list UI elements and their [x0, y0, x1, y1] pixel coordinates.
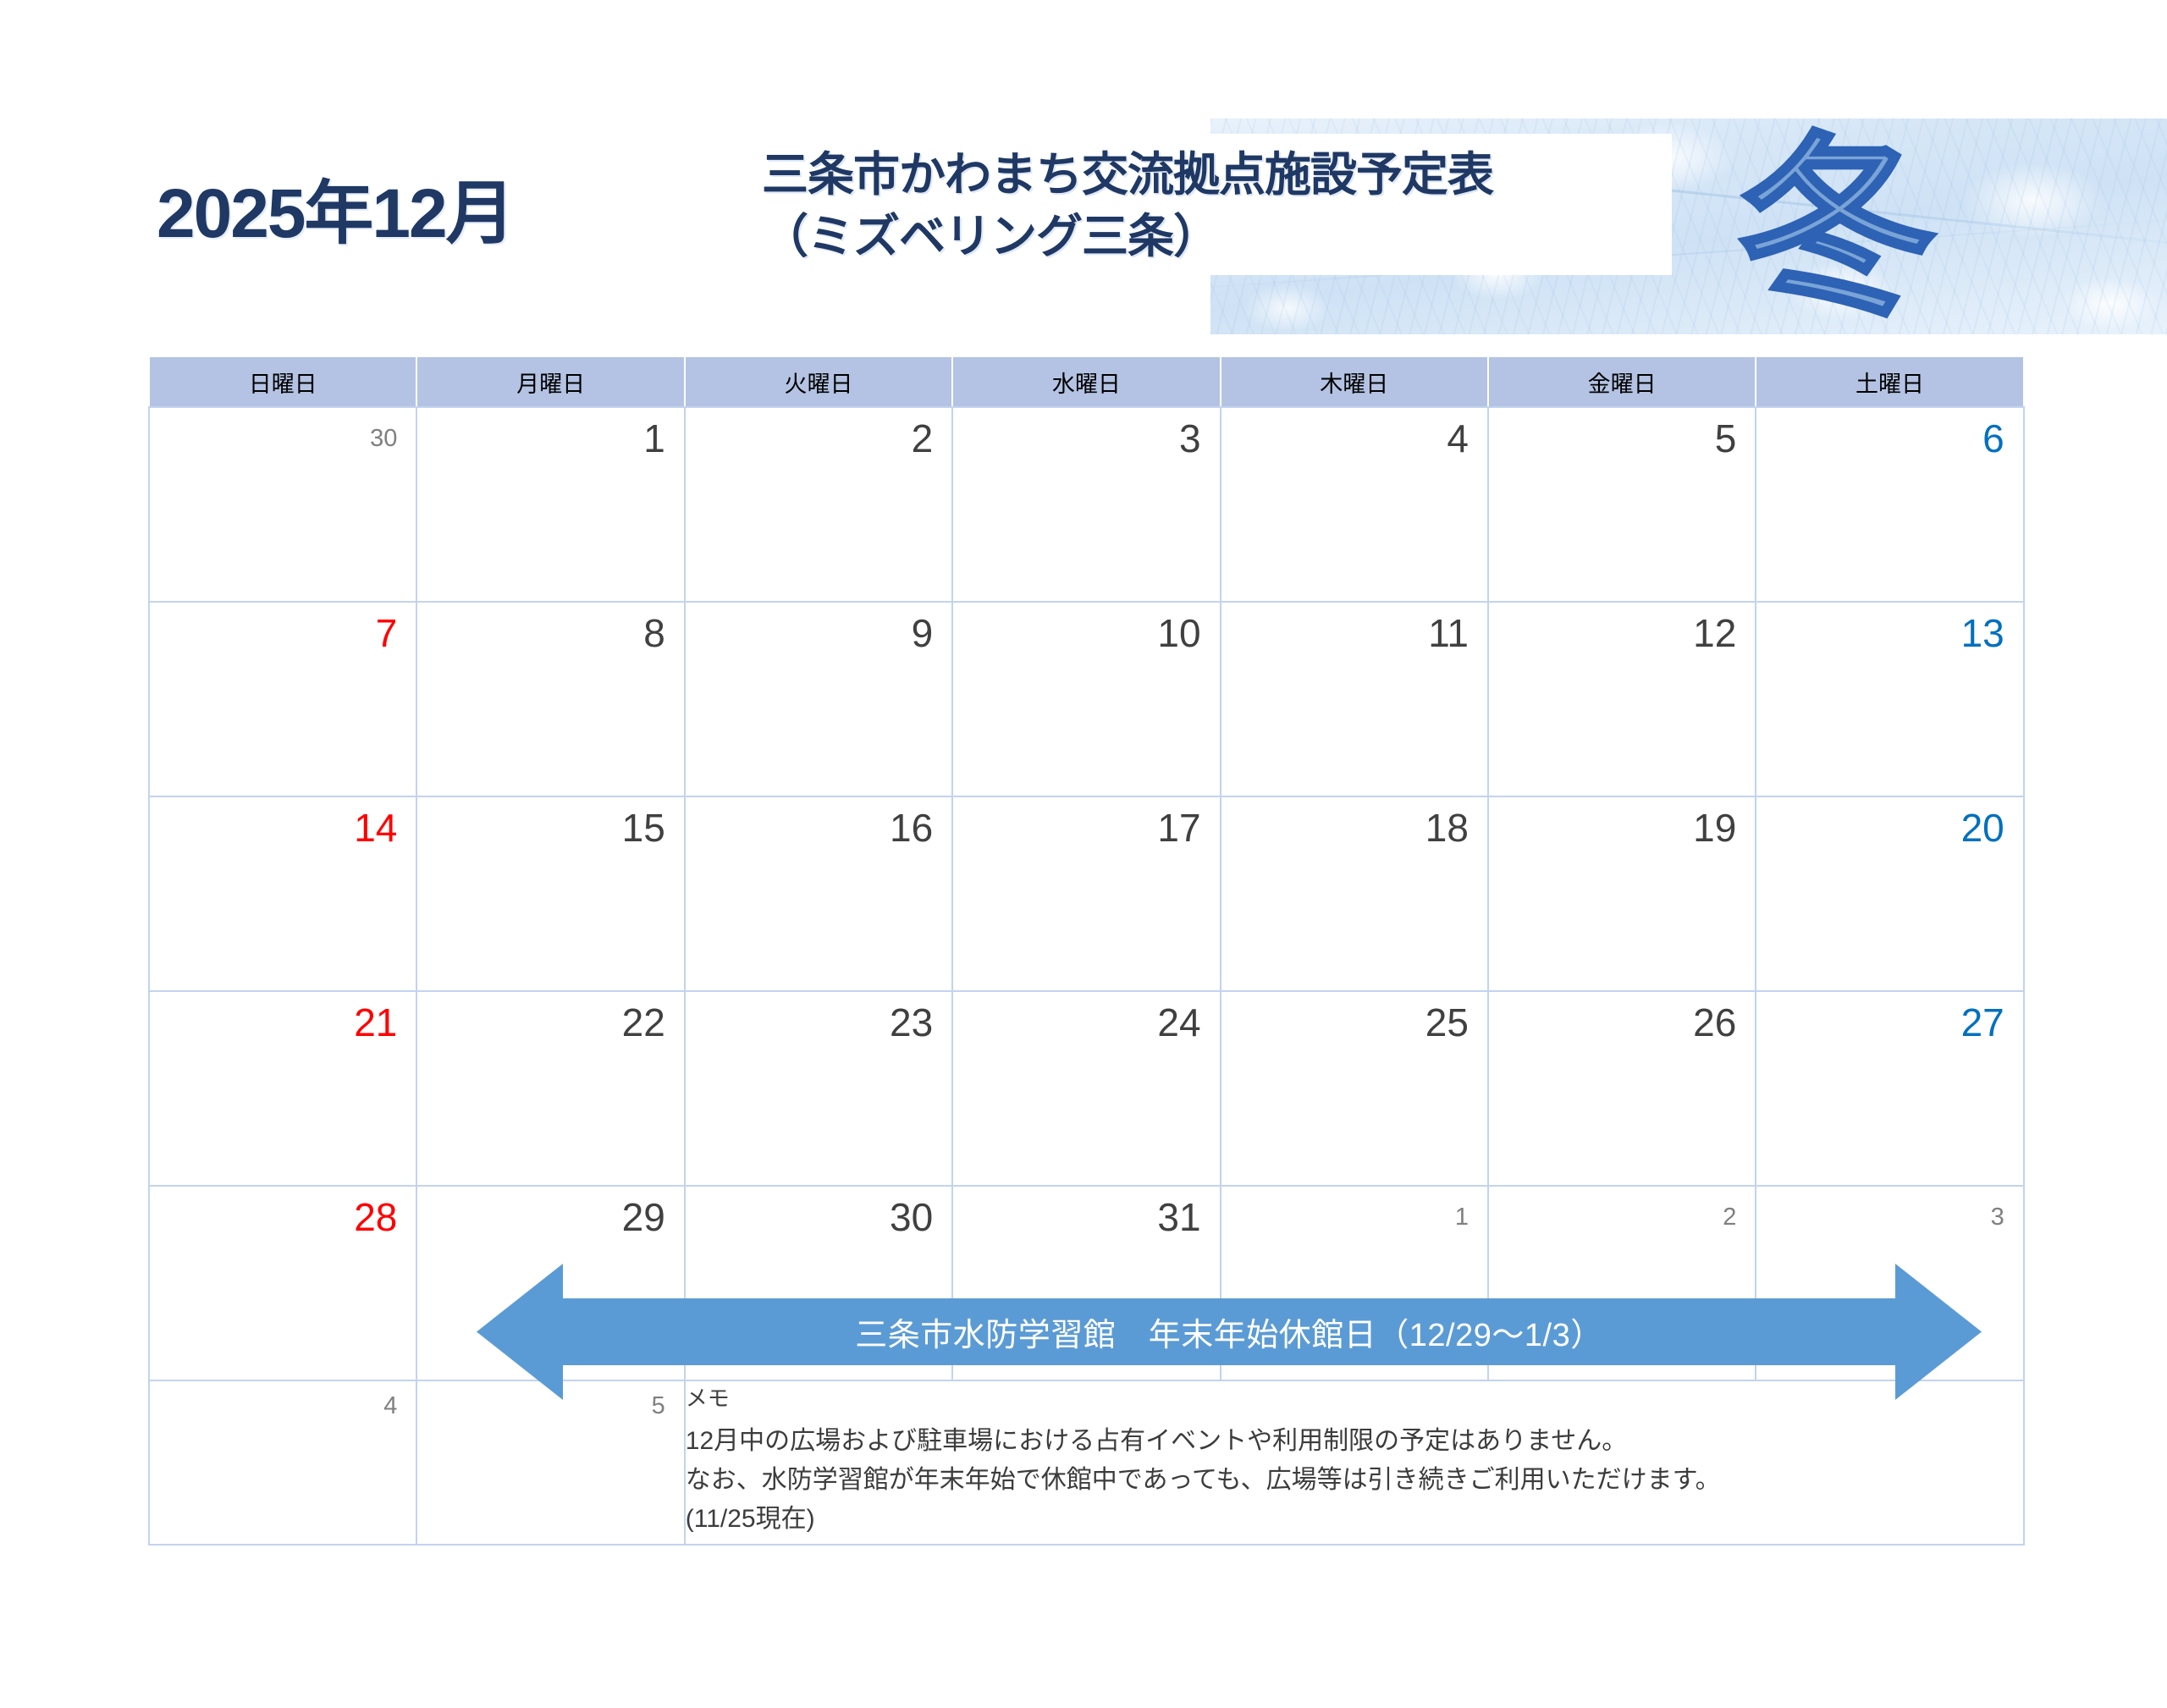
- day-number: 18: [1221, 797, 1487, 851]
- calendar-week-row: 30123456: [149, 407, 2024, 602]
- weekday-header-friday: 金曜日: [1488, 356, 1756, 407]
- day-number: 5: [1489, 408, 1755, 461]
- day-number: 1: [1221, 1187, 1487, 1240]
- day-number: 2: [1489, 1187, 1755, 1240]
- calendar-day-cell[interactable]: 25: [1221, 991, 1488, 1186]
- day-number: 10: [953, 603, 1219, 656]
- calendar-week-row: 78910111213: [149, 602, 2024, 796]
- facility-schedule-title-line2: （ミズベリング三条）: [762, 206, 1727, 267]
- day-number: 19: [1489, 797, 1755, 851]
- calendar-day-cell[interactable]: 22: [416, 991, 684, 1186]
- facility-schedule-title-line1: 三条市かわまち交流拠点施設予定表: [762, 148, 1493, 201]
- day-number: 8: [417, 603, 683, 656]
- month-title: 2025年12月: [157, 174, 514, 255]
- day-number: 25: [1221, 992, 1487, 1045]
- day-number: 4: [150, 1381, 416, 1423]
- calendar-day-cell[interactable]: 15: [416, 796, 684, 991]
- calendar-day-cell[interactable]: 7: [149, 602, 416, 796]
- calendar-week-row: 21222324252627: [149, 991, 2024, 1186]
- day-number: 3: [953, 408, 1219, 461]
- calendar-day-cell[interactable]: 31: [952, 1186, 1220, 1380]
- calendar-day-cell[interactable]: 12: [1488, 602, 1756, 796]
- day-number: 21: [150, 992, 416, 1045]
- calendar-day-cell[interactable]: 13: [1756, 602, 2023, 796]
- day-number: 17: [953, 797, 1219, 851]
- day-number: 24: [953, 992, 1219, 1045]
- day-number: 28: [150, 1187, 416, 1240]
- calendar-day-cell[interactable]: 17: [952, 796, 1220, 991]
- day-number: 23: [686, 992, 951, 1045]
- calendar-day-cell[interactable]: 20: [1756, 796, 2023, 991]
- calendar-header-row: 日曜日 月曜日 火曜日 水曜日 木曜日 金曜日 土曜日: [149, 356, 2024, 407]
- calendar-day-cell[interactable]: 29: [416, 1186, 684, 1380]
- calendar-day-cell[interactable]: 2: [685, 407, 952, 602]
- day-number: 4: [1221, 408, 1487, 461]
- memo-line: なお、水防学習館が年末年始で休館中であっても、広場等は引き続きご利用いただけます…: [686, 1461, 2023, 1500]
- calendar-day-cell[interactable]: 24: [952, 991, 1220, 1186]
- calendar-day-cell[interactable]: 26: [1488, 991, 1756, 1186]
- calendar-day-cell[interactable]: 27: [1756, 991, 2023, 1186]
- calendar-day-cell[interactable]: 11: [1221, 602, 1488, 796]
- calendar-day-cell[interactable]: 19: [1488, 796, 1756, 991]
- weekday-header-sunday: 日曜日: [149, 356, 416, 407]
- calendar-day-cell[interactable]: 8: [416, 602, 684, 796]
- weekday-header-wednesday: 水曜日: [952, 356, 1220, 407]
- memo-cell[interactable]: メモ12月中の広場および駐車場における占有イベントや利用制限の予定はありません。…: [685, 1380, 2024, 1545]
- day-number: 13: [1756, 603, 2022, 656]
- day-number: 26: [1489, 992, 1755, 1045]
- calendar-day-cell[interactable]: 3: [1756, 1186, 2023, 1380]
- day-number: 9: [686, 603, 951, 656]
- calendar-day-cell[interactable]: 6: [1756, 407, 2023, 602]
- calendar-day-cell[interactable]: 4: [1221, 407, 1488, 602]
- day-number: 29: [417, 1187, 683, 1240]
- day-number: 6: [1756, 408, 2022, 461]
- calendar-day-cell[interactable]: 16: [685, 796, 952, 991]
- calendar-day-cell[interactable]: 2: [1488, 1186, 1756, 1380]
- weekday-header-tuesday: 火曜日: [685, 356, 952, 407]
- day-number: 30: [150, 408, 416, 461]
- calendar-day-cell[interactable]: 21: [149, 991, 416, 1186]
- calendar-day-cell[interactable]: 23: [685, 991, 952, 1186]
- calendar-day-cell[interactable]: 1: [1221, 1186, 1488, 1380]
- calendar-body: 3012345678910111213141516171819202122232…: [149, 407, 2024, 1545]
- calendar-day-cell[interactable]: 28: [149, 1186, 416, 1380]
- day-number: 27: [1756, 992, 2022, 1045]
- winter-kanji-icon: 冬: [1697, 124, 1977, 334]
- day-number: 14: [150, 797, 416, 851]
- calendar-day-cell[interactable]: 30: [149, 407, 416, 602]
- calendar-day-cell[interactable]: 5: [1488, 407, 1756, 602]
- memo-line: 12月中の広場および駐車場における占有イベントや利用制限の予定はありません。: [686, 1422, 2023, 1461]
- calendar-table-wrap: 日曜日 月曜日 火曜日 水曜日 木曜日 金曜日 土曜日 301234567891…: [148, 355, 2023, 1545]
- weekday-header-thursday: 木曜日: [1221, 356, 1488, 407]
- day-number: 22: [417, 992, 683, 1045]
- weekday-header-saturday: 土曜日: [1756, 356, 2023, 407]
- facility-schedule-title: 三条市かわまち交流拠点施設予定表 （ミズベリング三条）: [762, 144, 1727, 267]
- calendar-day-cell[interactable]: 9: [685, 602, 952, 796]
- calendar-table: 日曜日 月曜日 火曜日 水曜日 木曜日 金曜日 土曜日 301234567891…: [148, 355, 2025, 1545]
- calendar-memo-row: 45メモ12月中の広場および駐車場における占有イベントや利用制限の予定はありませ…: [149, 1380, 2024, 1545]
- day-number: 15: [417, 797, 683, 851]
- memo-label: メモ: [686, 1381, 2023, 1415]
- day-number: 16: [686, 797, 951, 851]
- calendar-day-cell[interactable]: 1: [416, 407, 684, 602]
- calendar-page: 冬 三条市かわまち交流拠点施設予定表 （ミズベリング三条） 2025年12月 日…: [0, 0, 2167, 1708]
- day-number: 1: [417, 408, 683, 461]
- day-number: 30: [686, 1187, 951, 1240]
- day-number: 5: [417, 1381, 683, 1423]
- page-header: 冬 三条市かわまち交流拠点施設予定表 （ミズベリング三条） 2025年12月: [0, 0, 2167, 351]
- calendar-day-cell[interactable]: 3: [952, 407, 1220, 602]
- calendar-day-cell[interactable]: 4: [149, 1380, 416, 1545]
- memo-body: 12月中の広場および駐車場における占有イベントや利用制限の予定はありません。なお…: [686, 1422, 2023, 1539]
- calendar-day-cell[interactable]: 10: [952, 602, 1220, 796]
- calendar-week-row: 14151617181920: [149, 796, 2024, 991]
- memo-line: (11/25現在): [686, 1500, 2023, 1539]
- day-number: 12: [1489, 603, 1755, 656]
- day-number: 3: [1756, 1187, 2022, 1240]
- day-number: 20: [1756, 797, 2022, 851]
- calendar-week-row: 28293031123: [149, 1186, 2024, 1380]
- calendar-day-cell[interactable]: 18: [1221, 796, 1488, 991]
- day-number: 7: [150, 603, 416, 656]
- calendar-day-cell[interactable]: 5: [416, 1380, 684, 1545]
- weekday-header-monday: 月曜日: [416, 356, 684, 407]
- calendar-day-cell[interactable]: 30: [685, 1186, 952, 1380]
- day-number: 11: [1221, 603, 1487, 656]
- day-number: 31: [953, 1187, 1219, 1240]
- calendar-day-cell[interactable]: 14: [149, 796, 416, 991]
- day-number: 2: [686, 408, 951, 461]
